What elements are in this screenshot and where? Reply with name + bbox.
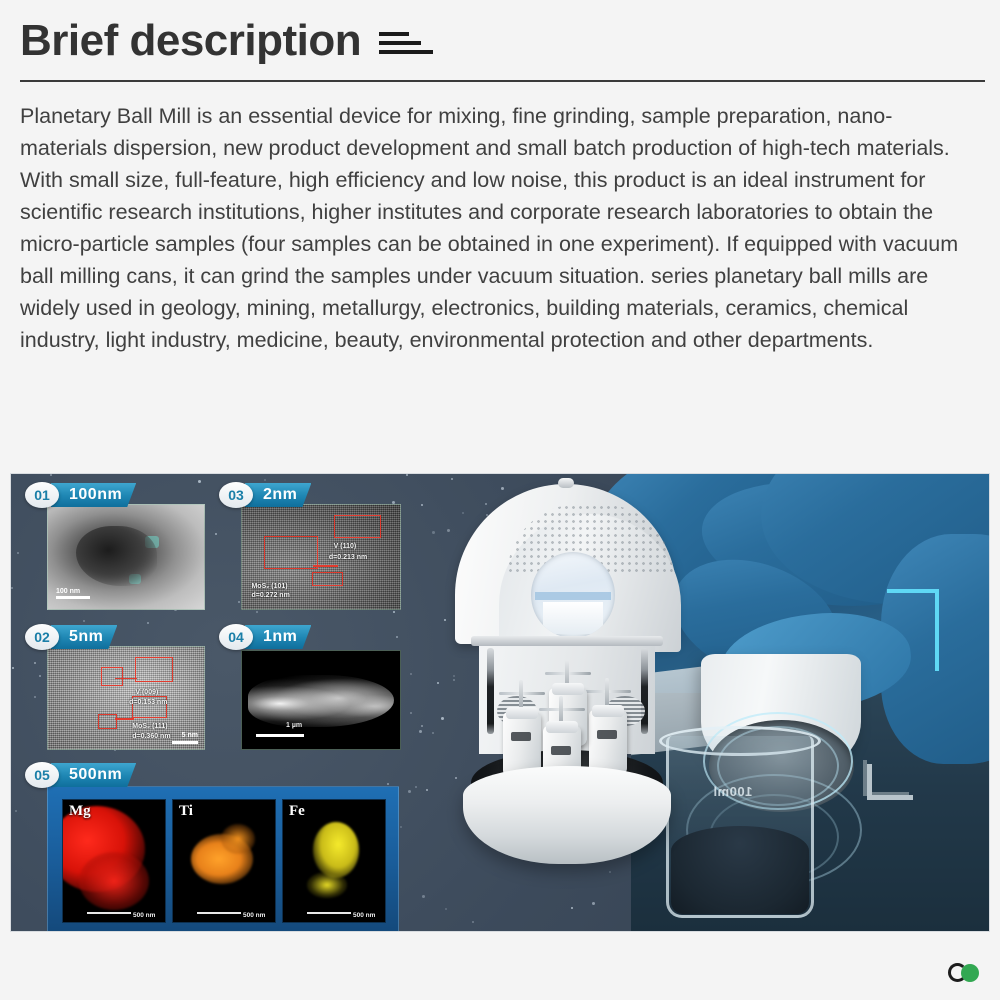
description-paragraph: Planetary Ball Mill is an essential devi… bbox=[0, 82, 990, 356]
lattice-annotation: MoS₂ (101) bbox=[251, 582, 287, 591]
star-dot bbox=[393, 611, 395, 613]
machine-viewport-window bbox=[531, 552, 615, 638]
title-row: Brief description bbox=[20, 18, 980, 64]
jar-label-window bbox=[551, 746, 571, 755]
sample-badge-05: 05 500nm bbox=[25, 762, 136, 788]
sample-image-02: V (009) d=0.153 nm MoS₂ (111) d=0.360 nm… bbox=[47, 646, 205, 750]
sample-tile-01: 100 nm 01 100nm bbox=[25, 482, 205, 610]
scale-bar-label: 500 nm bbox=[133, 912, 155, 919]
jar-cap bbox=[592, 705, 624, 717]
sample-scale-ribbon: 500nm bbox=[51, 763, 136, 787]
element-map-fe: Fe 500 nm bbox=[282, 799, 386, 923]
annotation-box bbox=[98, 714, 117, 728]
sample-number: 04 bbox=[219, 624, 253, 650]
sample-badge-03: 03 2nm bbox=[219, 482, 311, 508]
scale-bar bbox=[56, 596, 90, 599]
three-lines-icon bbox=[379, 32, 433, 64]
jar-cap bbox=[506, 707, 538, 719]
annotation-line bbox=[115, 718, 134, 720]
sample-scale-ribbon: 2nm bbox=[245, 483, 311, 507]
annotation-box bbox=[264, 536, 318, 569]
hud-corner-bracket-icon bbox=[887, 589, 939, 671]
star-dot bbox=[50, 474, 52, 476]
machine-lid-knob bbox=[558, 478, 574, 488]
star-dot bbox=[215, 533, 217, 535]
lattice-annotation: d=0.360 nm bbox=[132, 732, 170, 741]
star-dot bbox=[421, 725, 423, 727]
star-dot bbox=[426, 789, 428, 791]
star-dot bbox=[11, 587, 13, 589]
sample-image-04: 1 µm bbox=[241, 650, 401, 750]
scale-bar bbox=[87, 912, 131, 914]
sample-tile-05: Mg 500 nm Ti 500 nm Fe bbox=[25, 762, 401, 926]
element-symbol: Mg bbox=[69, 803, 91, 820]
element-symbol: Fe bbox=[289, 803, 305, 820]
jar-label-window bbox=[597, 730, 617, 739]
page-header: Brief description bbox=[0, 0, 1000, 82]
sample-tile-03: V (110) d=0.213 nm MoS₂ (101) d=0.272 nm… bbox=[219, 482, 399, 610]
sample-scale-ribbon: 100nm bbox=[51, 483, 136, 507]
element-signal bbox=[307, 872, 347, 898]
scale-bar bbox=[307, 912, 351, 914]
scale-bar-label: 1 µm bbox=[286, 722, 302, 729]
sample-number: 03 bbox=[219, 482, 253, 508]
tem-highlight bbox=[145, 536, 159, 548]
element-symbol: Ti bbox=[179, 803, 193, 820]
star-dot bbox=[410, 673, 412, 675]
lattice-annotation: V (110) bbox=[334, 542, 357, 551]
star-dot bbox=[83, 620, 85, 622]
annotation-line bbox=[313, 565, 338, 567]
deco-line-short bbox=[379, 32, 409, 36]
beaker-volume-label: 100ml bbox=[713, 784, 752, 799]
annotation-box bbox=[334, 515, 381, 538]
element-signal bbox=[221, 824, 255, 854]
lattice-annotation: d=0.153 nm bbox=[129, 698, 167, 707]
sample-tile-02: V (009) d=0.153 nm MoS₂ (111) d=0.360 nm… bbox=[25, 624, 205, 750]
scale-bar bbox=[197, 912, 241, 914]
annotation-box bbox=[101, 667, 123, 685]
lattice-annotation: d=0.272 nm bbox=[251, 591, 289, 600]
machine-gas-strut bbox=[641, 648, 648, 734]
sample-image-01: 100 nm bbox=[47, 504, 205, 610]
element-map-ti: Ti 500 nm bbox=[172, 799, 276, 923]
annotation-line bbox=[115, 678, 137, 680]
jar-cap bbox=[552, 683, 584, 695]
star-dot bbox=[421, 504, 423, 506]
tem-highlight bbox=[129, 574, 141, 584]
star-dot bbox=[415, 786, 417, 788]
sample-number: 02 bbox=[25, 624, 59, 650]
sample-badge-02: 02 5nm bbox=[25, 624, 117, 650]
product-media-panel: 100ml bbox=[10, 473, 990, 932]
star-dot bbox=[419, 730, 422, 733]
lattice-annotation: V (009) bbox=[135, 688, 158, 697]
element-signal bbox=[313, 822, 359, 878]
jar-cap bbox=[546, 721, 578, 733]
deco-line-long bbox=[379, 50, 433, 54]
star-dot bbox=[15, 810, 17, 812]
scale-bar-label: 500 nm bbox=[243, 912, 265, 919]
sample-tile-04: 1 µm 04 1nm bbox=[219, 624, 399, 750]
green-dot-icon bbox=[961, 964, 979, 982]
brand-toggle-logo[interactable] bbox=[948, 962, 988, 984]
sample-scale-ribbon: 5nm bbox=[51, 625, 117, 649]
scale-bar-label: 5 nm bbox=[182, 732, 198, 739]
element-signal bbox=[79, 852, 149, 910]
element-map-mg: Mg 500 nm bbox=[62, 799, 166, 923]
planetary-ball-mill-machine bbox=[431, 474, 701, 932]
lattice-annotation: MoS₂ (111) bbox=[132, 722, 167, 731]
star-dot bbox=[408, 790, 411, 793]
scale-bar bbox=[256, 734, 304, 737]
star-dot bbox=[406, 474, 408, 476]
annotation-box bbox=[312, 572, 344, 587]
element-map-strip: Mg 500 nm Ti 500 nm Fe bbox=[47, 786, 399, 932]
sample-image-03: V (110) d=0.213 nm MoS₂ (101) d=0.272 nm bbox=[241, 504, 401, 610]
star-dot bbox=[410, 712, 412, 714]
machine-gas-strut bbox=[487, 648, 494, 734]
star-dot bbox=[422, 895, 425, 898]
star-dot bbox=[12, 667, 14, 669]
product-description-page: Brief description Planetary Ball Mill is… bbox=[0, 0, 1000, 1000]
star-dot bbox=[256, 611, 258, 613]
scale-bar-label: 500 nm bbox=[353, 912, 375, 919]
scale-bar-label: 100 nm bbox=[56, 588, 80, 595]
scale-bar bbox=[172, 741, 198, 744]
sample-badge-01: 01 100nm bbox=[25, 482, 136, 508]
lattice-annotation: d=0.213 nm bbox=[329, 553, 367, 562]
sample-badge-04: 04 1nm bbox=[219, 624, 311, 650]
sample-number: 01 bbox=[25, 482, 59, 508]
annotation-box bbox=[135, 657, 172, 681]
sample-number: 05 bbox=[25, 762, 59, 788]
page-title: Brief description bbox=[20, 18, 361, 64]
star-dot bbox=[17, 552, 19, 554]
machine-base bbox=[463, 766, 671, 864]
deco-line-medium bbox=[379, 41, 421, 45]
jar-label-window bbox=[511, 732, 531, 741]
star-dot bbox=[264, 479, 266, 481]
hud-corner-bracket-icon bbox=[867, 764, 913, 800]
machine-hinge-bar bbox=[471, 636, 663, 646]
sample-scale-ribbon: 1nm bbox=[245, 625, 311, 649]
